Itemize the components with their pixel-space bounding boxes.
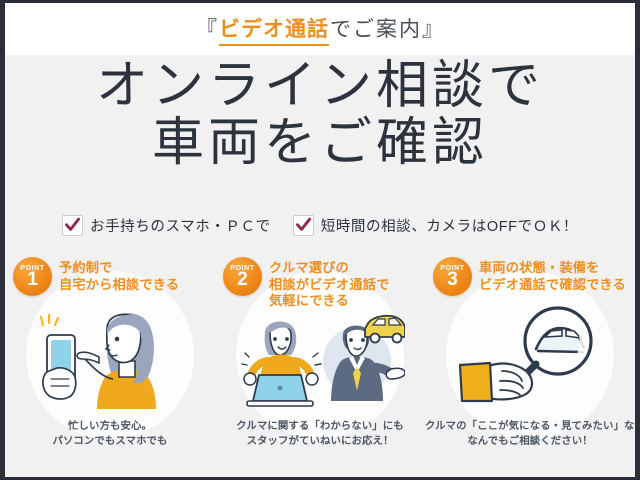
point-title-1: 予約制で 自宅から相談できる <box>59 257 179 293</box>
point-title-line: 自宅から相談できる <box>59 277 179 294</box>
kicker-text: 『 ビデオ通話 でご案内 』 <box>196 13 444 46</box>
feature-check-row: お手持ちのスマホ・ＰＣで 短時間の相談、カメラはOFFでＯＫ！ <box>5 215 635 236</box>
caption-line: なんでもご相談ください！ <box>425 434 635 450</box>
point-title-line: ビデオ通話で確認できる <box>479 277 626 294</box>
point-title-2: クルマ選びの 相談がビデオ通話で 気軽にできる <box>269 257 390 310</box>
check-label-1: お手持ちのスマホ・ＰＣで <box>90 215 271 236</box>
badge-number: 2 <box>237 270 248 289</box>
point-panel-2: POINT 2 クルマ選びの 相談がビデオ通話で 気軽にできる <box>215 255 425 455</box>
point-title-line: 予約制で <box>59 260 179 277</box>
point-title-3: 車両の状態・装備を ビデオ通話で確認できる <box>479 257 626 293</box>
points-section: POINT 1 予約制で 自宅から相談できる <box>5 255 635 455</box>
point-caption-1: 忙しい方も安心。 パソコンでもスマホでも <box>5 419 215 450</box>
caption-line: パソコンでもスマホでも <box>5 434 215 450</box>
headline-line-2: 車両をご確認 <box>5 116 635 171</box>
badge-number: 1 <box>27 270 38 289</box>
woman-with-smartphone-illustration <box>5 299 215 409</box>
check-icon <box>293 215 314 236</box>
check-item-1: お手持ちのスマホ・ＰＣで <box>62 215 271 236</box>
banner-header: 『 ビデオ通話 でご案内 』 <box>5 3 635 55</box>
check-label-2: 短時間の相談、カメラはOFFでＯＫ！ <box>321 215 578 236</box>
point-title-line: クルマ選びの <box>269 260 390 277</box>
caption-line: クルマに関する「わからない」にも <box>215 419 425 435</box>
hand-holding-magnifier-over-car-illustration <box>425 299 635 409</box>
point-header-1: POINT 1 予約制で 自宅から相談できる <box>13 257 211 296</box>
point-badge-3: POINT 3 <box>433 257 472 296</box>
point-caption-2: クルマに関する「わからない」にも スタッフがていねいにお応え！ <box>215 419 425 450</box>
point-caption-3: クルマの「ここが気になる・見てみたい」など なんでもご相談ください！ <box>425 419 635 450</box>
point-header-2: POINT 2 クルマ選びの 相談がビデオ通話で 気軽にできる <box>223 257 421 310</box>
check-icon <box>62 215 83 236</box>
check-item-2: 短時間の相談、カメラはOFFでＯＫ！ <box>293 215 578 236</box>
headline-line-1: オンライン相談で <box>5 59 635 114</box>
point-title-line: 相談がビデオ通話で <box>269 277 390 294</box>
kicker-highlight: ビデオ通話 <box>219 13 329 46</box>
point-panel-1: POINT 1 予約制で 自宅から相談できる <box>5 255 215 455</box>
caption-line: スタッフがていねいにお応え！ <box>215 434 425 450</box>
caption-line: クルマの「ここが気になる・見てみたい」など <box>425 419 635 435</box>
point-title-line: 気軽にできる <box>269 293 390 310</box>
point-badge-2: POINT 2 <box>223 257 262 296</box>
promo-banner: 『 ビデオ通話 でご案内 』 オンライン相談で 車両をご確認 お手持ちのスマホ・… <box>0 0 640 480</box>
point-badge-1: POINT 1 <box>13 257 52 296</box>
page-title: オンライン相談で 車両をご確認 <box>5 59 635 171</box>
caption-line: 忙しい方も安心。 <box>5 419 215 435</box>
point-header-3: POINT 3 車両の状態・装備を ビデオ通話で確認できる <box>433 257 631 296</box>
badge-number: 3 <box>447 270 458 289</box>
point-title-line: 車両の状態・装備を <box>479 260 626 277</box>
kicker-open-bracket: 『 <box>196 13 218 43</box>
point-panel-3: POINT 3 車両の状態・装備を ビデオ通話で確認できる <box>425 255 635 455</box>
woman-laptop-and-salesman-with-car-illustration <box>215 299 425 409</box>
kicker-tail: でご案内 <box>330 13 422 43</box>
kicker-close-bracket: 』 <box>422 13 444 43</box>
